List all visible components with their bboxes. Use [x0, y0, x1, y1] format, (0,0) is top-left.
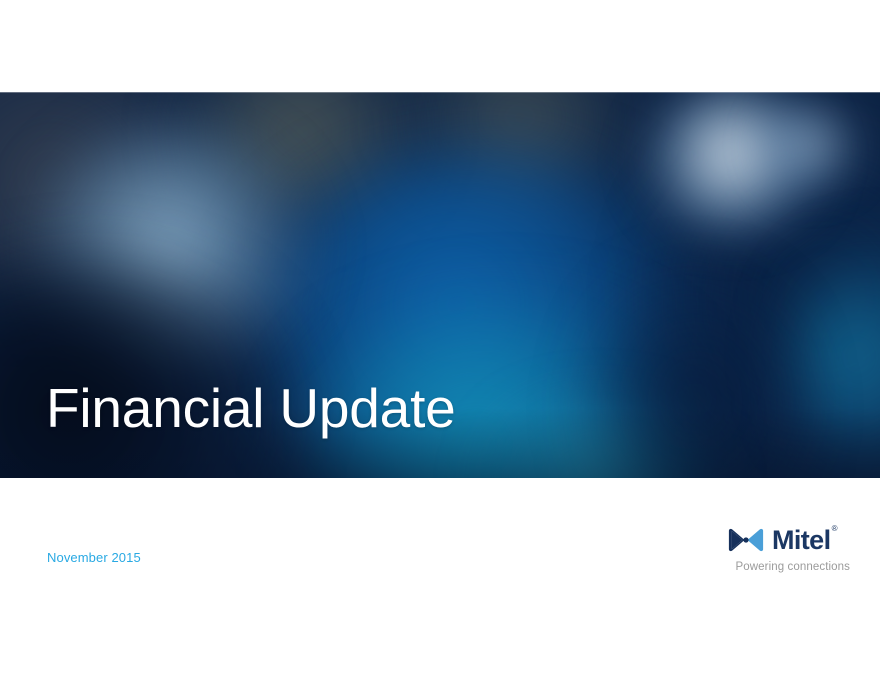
registered-trademark-icon: ®	[832, 525, 838, 533]
brand-wordmark: Mitel®	[772, 527, 831, 554]
slide-date: November 2015	[47, 550, 141, 565]
bokeh-white-highlight-2	[756, 100, 866, 190]
brand-wordmark-text: Mitel	[772, 525, 831, 555]
brand-lockup: Mitel®	[728, 524, 850, 556]
hero-top-hairline	[0, 92, 880, 93]
title-slide: Financial Update Steve Spooner CFO Novem…	[0, 0, 880, 680]
page-title: Financial Update	[46, 378, 456, 439]
mitel-bowtie-icon	[728, 527, 764, 553]
hero-image-band: Financial Update Steve Spooner CFO	[0, 92, 880, 478]
brand-tagline: Powering connections	[728, 561, 850, 573]
brand-logo: Mitel® Powering connections	[728, 524, 850, 576]
